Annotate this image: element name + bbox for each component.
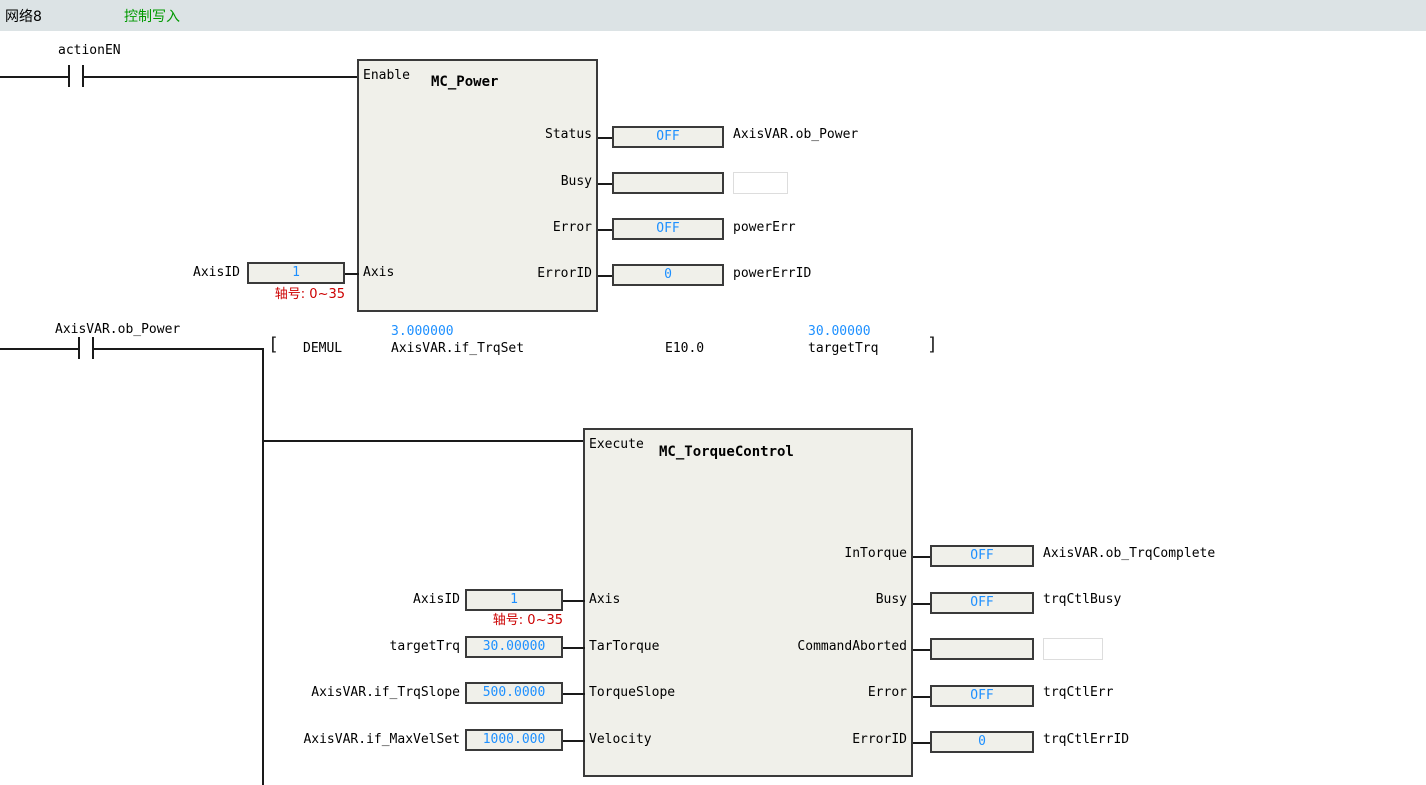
operand-label-errorid: powerErrID <box>733 266 811 281</box>
instruction-close-bracket: ] <box>927 336 938 354</box>
instruction-open-bracket: [ <box>268 336 279 354</box>
instruction-operand-0-value: 3.000000 <box>391 324 454 339</box>
wire-tartorque <box>563 647 585 649</box>
value-box-torqueslope[interactable]: 500.0000 <box>465 682 563 704</box>
ladder-diagram-canvas: 网络8 控制写入 actionEN Enable MC_Power Axis S… <box>0 0 1426 785</box>
pin-execute: Execute <box>589 437 644 452</box>
value-box-errorid-trq[interactable]: 0 <box>930 731 1034 753</box>
contact-bar-left <box>78 337 80 359</box>
pin-busy: Busy <box>448 174 592 189</box>
contact-actionEN-label: actionEN <box>58 43 121 58</box>
wire-torqueslope <box>563 693 585 695</box>
value-box-tartorque[interactable]: 30.00000 <box>465 636 563 658</box>
network-header-bar <box>0 0 1426 31</box>
branch-rail-vertical <box>262 348 264 785</box>
rung2-wire-to-instr <box>94 348 263 350</box>
operand-label-error-trq: trqCtlErr <box>1043 685 1113 700</box>
wire-errorid-trq <box>913 742 930 744</box>
wire-errorid <box>598 275 612 277</box>
operand-label-tartorque: targetTrq <box>340 639 460 654</box>
note-axis-range-power: 轴号: 0~35 <box>180 283 345 302</box>
note-axis-range-trq: 轴号: 0~35 <box>398 609 563 628</box>
value-box-busy[interactable] <box>612 172 724 194</box>
operand-label-busy-trq: trqCtlBusy <box>1043 592 1121 607</box>
wire-busy <box>598 183 612 185</box>
operand-label-axisid-power: AxisID <box>120 265 240 280</box>
wire-error <box>598 229 612 231</box>
operand-label-status: AxisVAR.ob_Power <box>733 127 858 142</box>
instruction-operand-1-name[interactable]: E10.0 <box>665 341 704 356</box>
wire-status <box>598 137 612 139</box>
value-box-error-trq[interactable]: OFF <box>930 685 1034 707</box>
operand-label-axisid-trq: AxisID <box>340 592 460 607</box>
network-comment: 控制写入 <box>124 6 180 26</box>
pin-errorid: ErrorID <box>448 266 592 281</box>
wire-error-trq <box>913 696 930 698</box>
rung3-wire-to-block <box>262 440 583 442</box>
wire-intorque <box>913 556 930 558</box>
wire-velocity <box>563 740 585 742</box>
value-box-axisid-trq[interactable]: 1 <box>465 589 563 611</box>
operand-label-torqueslope: AxisVAR.if_TrqSlope <box>265 685 460 700</box>
rung2-wire-left <box>0 348 78 350</box>
pin-axis: Axis <box>363 265 394 280</box>
value-box-status[interactable]: OFF <box>612 126 724 148</box>
pin-torqueslope: TorqueSlope <box>589 685 675 700</box>
block-name-mc-torquecontrol: MC_TorqueControl <box>659 444 794 460</box>
wire-busy-trq <box>913 603 930 605</box>
block-name-mc-power: MC_Power <box>431 74 498 90</box>
value-box-commandaborted[interactable] <box>930 638 1034 660</box>
value-box-velocity[interactable]: 1000.000 <box>465 729 563 751</box>
value-box-busy-trq[interactable]: OFF <box>930 592 1034 614</box>
pin-velocity: Velocity <box>589 732 652 747</box>
operand-label-velocity: AxisVAR.if_MaxVelSet <box>265 732 460 747</box>
pin-busy-trq: Busy <box>700 592 907 607</box>
instruction-operand-2-name[interactable]: targetTrq <box>808 341 878 356</box>
value-box-axisid-power[interactable]: 1 <box>247 262 345 284</box>
operand-label-intorque: AxisVAR.ob_TrqComplete <box>1043 546 1215 561</box>
rung1-wire-to-block <box>84 76 357 78</box>
operand-label-errorid-trq: trqCtlErrID <box>1043 732 1129 747</box>
pin-errorid-trq: ErrorID <box>700 732 907 747</box>
instruction-name-demul[interactable]: DEMUL <box>303 341 342 356</box>
wire-axisid-power <box>345 273 359 275</box>
pin-error: Error <box>448 220 592 235</box>
value-box-intorque[interactable]: OFF <box>930 545 1034 567</box>
instruction-operand-0-name[interactable]: AxisVAR.if_TrqSet <box>391 341 524 356</box>
contact-axisvar-ob-power-label: AxisVAR.ob_Power <box>55 322 180 337</box>
value-box-errorid[interactable]: 0 <box>612 264 724 286</box>
pin-enable: Enable <box>363 68 410 83</box>
pin-commandaborted: CommandAborted <box>700 639 907 654</box>
wire-axisid-trq <box>563 600 585 602</box>
pin-tartorque: TarTorque <box>589 639 659 654</box>
pin-intorque: InTorque <box>700 546 907 561</box>
operand-box-commandaborted[interactable] <box>1043 638 1103 660</box>
wire-commandaborted <box>913 649 930 651</box>
value-box-error[interactable]: OFF <box>612 218 724 240</box>
rung1-wire-left <box>0 76 68 78</box>
operand-label-error: powerErr <box>733 220 796 235</box>
network-label: 网络8 <box>5 6 42 26</box>
operand-box-busy[interactable] <box>733 172 788 194</box>
pin-error-trq: Error <box>700 685 907 700</box>
instruction-operand-2-value: 30.00000 <box>808 324 871 339</box>
pin-status: Status <box>448 127 592 142</box>
pin-axis-trq: Axis <box>589 592 620 607</box>
contact-bar-left <box>68 65 70 87</box>
